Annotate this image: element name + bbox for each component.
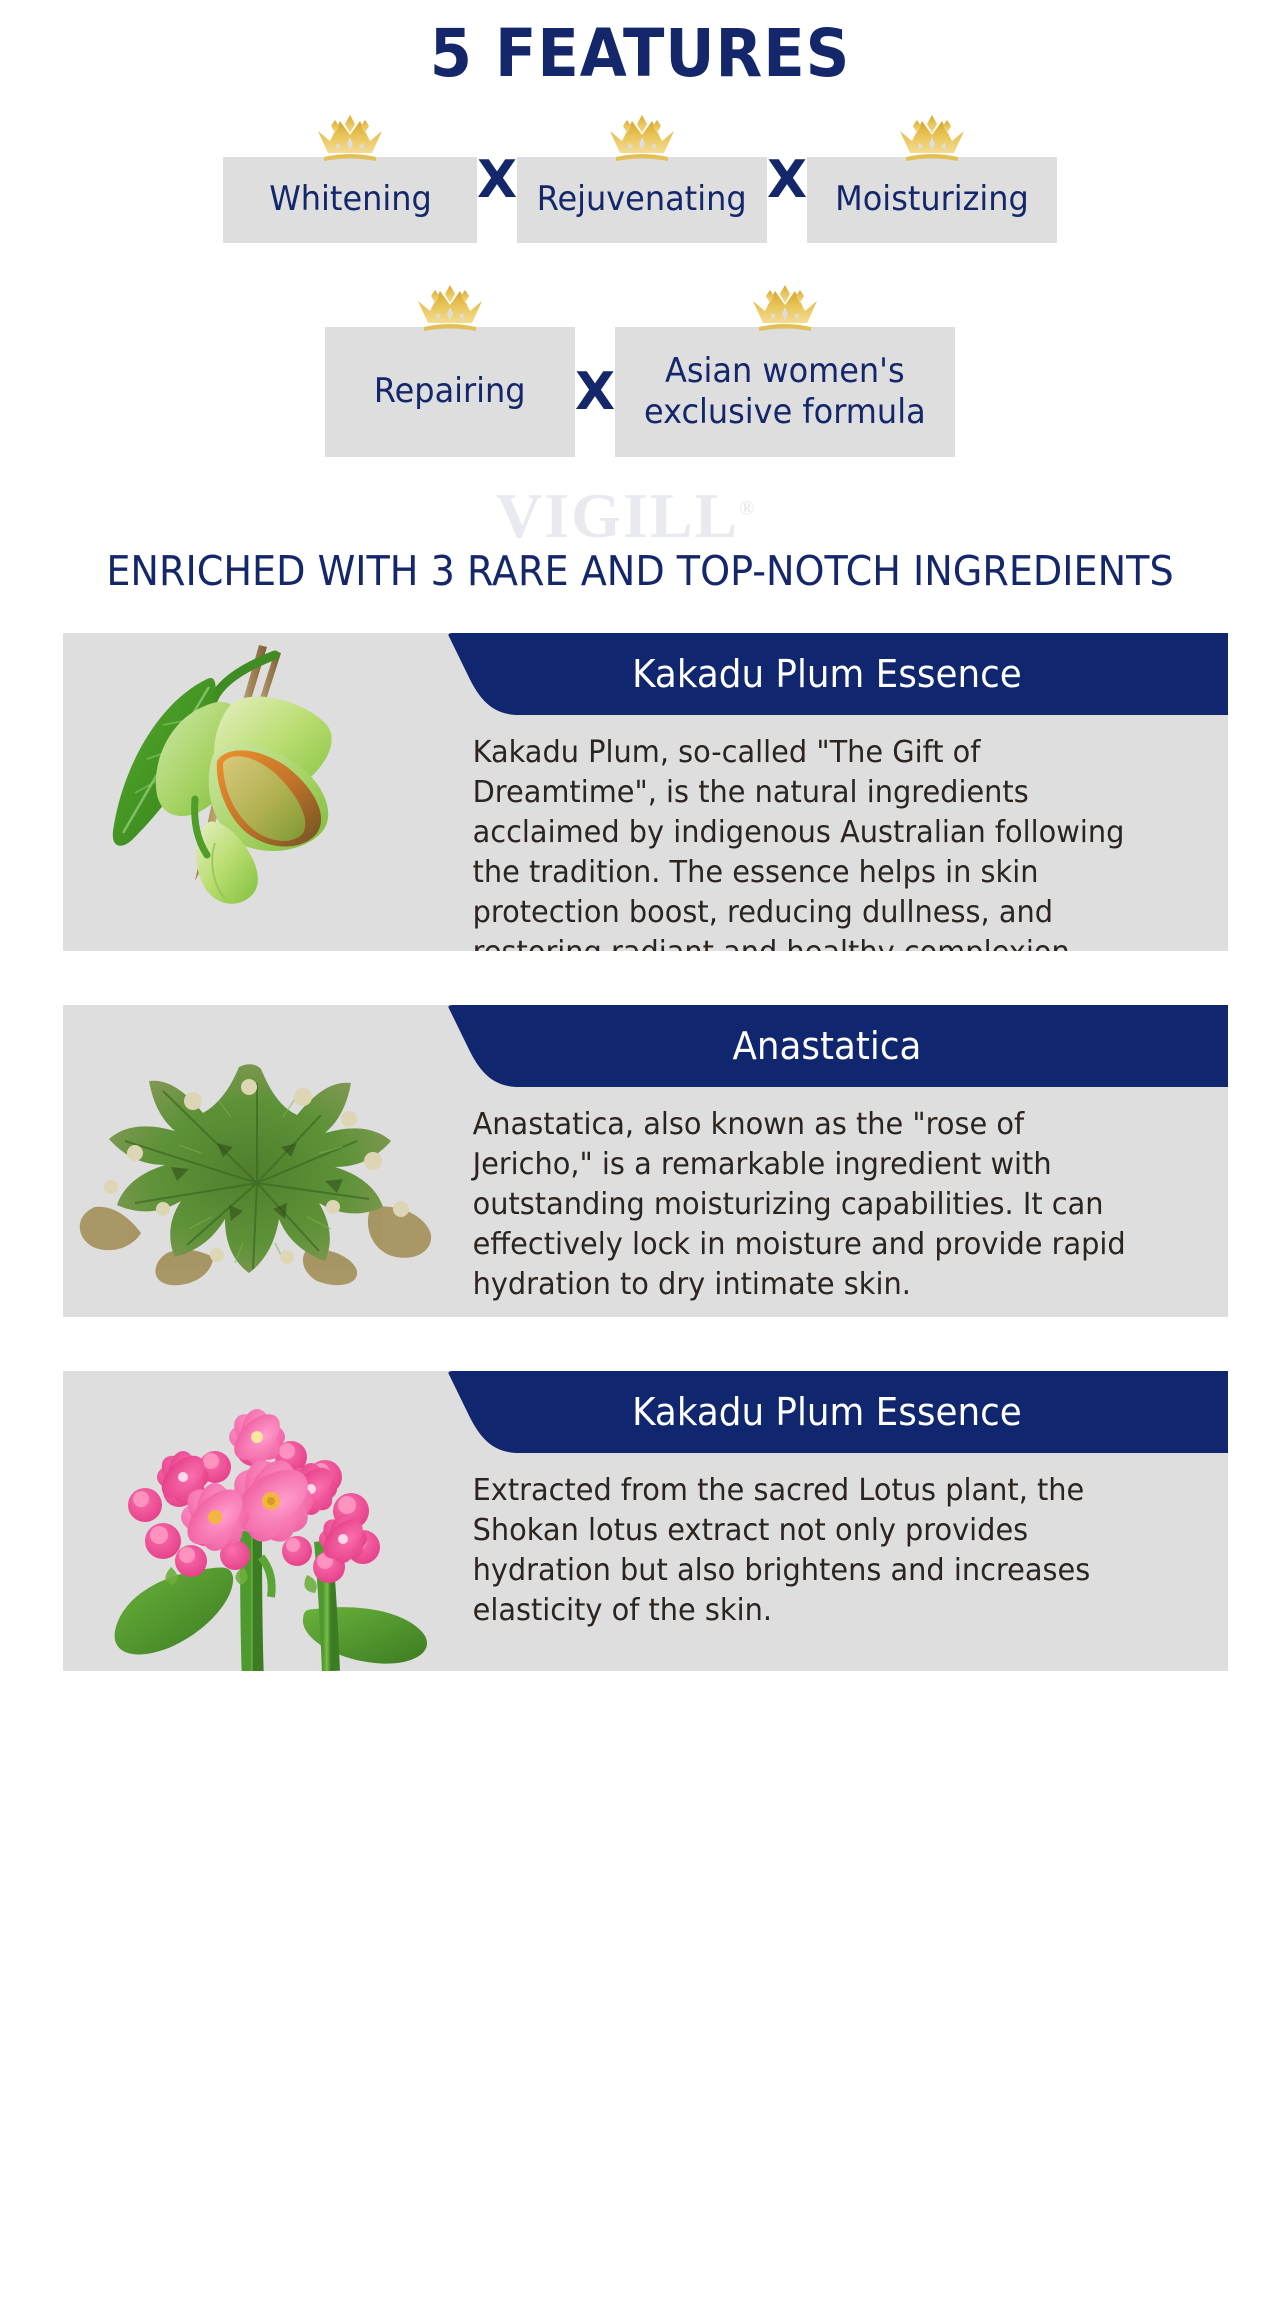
feature-box-repairing: Repairing [325, 327, 575, 457]
ingredient-name: Kakadu Plum Essence [463, 652, 1205, 696]
feature-box-whitening: Whitening [223, 157, 477, 243]
ingredient-card-body: Kakadu Plum Essence Extracted from the s… [463, 1371, 1228, 1671]
ingredient-description: Anastatica, also known as the "rose of J… [463, 1087, 1197, 1317]
brand-watermark: VIGILL® [496, 479, 756, 553]
features-section: Whitening X Rejuvenating X [0, 117, 1280, 457]
ingredient-name: Kakadu Plum Essence [463, 1390, 1205, 1434]
crown-icon [606, 113, 678, 165]
feature-separator-1: X [477, 150, 517, 210]
page-title: 5 FEATURES [51, 0, 1229, 91]
feature-label: Asian women's exclusive formula [644, 351, 926, 433]
pink-kalanchoe-lotus-flower-photo [63, 1371, 463, 1671]
crown-icon [414, 283, 486, 335]
ingredient-description: Kakadu Plum, so-called "The Gift of Drea… [463, 715, 1197, 951]
feature-box-rejuvenating: Rejuvenating [517, 157, 767, 243]
feature-label: Rejuvenating [537, 179, 747, 220]
feature-label: Repairing [374, 371, 526, 412]
feature-separator-2: X [767, 150, 807, 210]
feature-separator-3: X [575, 327, 615, 457]
ingredient-card: Kakadu Plum Essence Extracted from the s… [63, 1371, 1228, 1671]
features-row-1: Whitening X Rejuvenating X [0, 117, 1280, 243]
features-row-2: Repairing X Asian women's exclusive form… [0, 287, 1280, 457]
ingredient-cards: Kakadu Plum Essence Kakadu Plum, so-call… [0, 633, 1280, 1671]
ingredient-card: Anastatica Anastatica, also known as the… [63, 1005, 1228, 1317]
crown-icon [314, 113, 386, 165]
feature-box-asian-formula: Asian women's exclusive formula [615, 327, 955, 457]
ingredient-title-banner: Kakadu Plum Essence [439, 633, 1228, 715]
ingredient-name: Anastatica [463, 1024, 1205, 1068]
ingredient-card-body: Anastatica Anastatica, also known as the… [463, 1005, 1228, 1317]
anastatica-rose-of-jericho-photo [63, 1005, 463, 1317]
crown-icon [896, 113, 968, 165]
ingredient-card-body: Kakadu Plum Essence Kakadu Plum, so-call… [463, 633, 1228, 951]
ingredient-description: Extracted from the sacred Lotus plant, t… [463, 1453, 1197, 1657]
kakadu-plum-illustration [63, 633, 463, 951]
crown-icon [749, 283, 821, 335]
ingredient-card: Kakadu Plum Essence Kakadu Plum, so-call… [63, 633, 1228, 951]
feature-label: Moisturizing [835, 179, 1029, 220]
ingredients-section-heading: ENRICHED WITH 3 RARE AND TOP-NOTCH INGRE… [45, 545, 1235, 597]
feature-box-moisturizing: Moisturizing [807, 157, 1057, 243]
ingredient-title-banner: Kakadu Plum Essence [439, 1371, 1228, 1453]
ingredient-title-banner: Anastatica [439, 1005, 1228, 1087]
feature-label: Whitening [269, 179, 432, 220]
